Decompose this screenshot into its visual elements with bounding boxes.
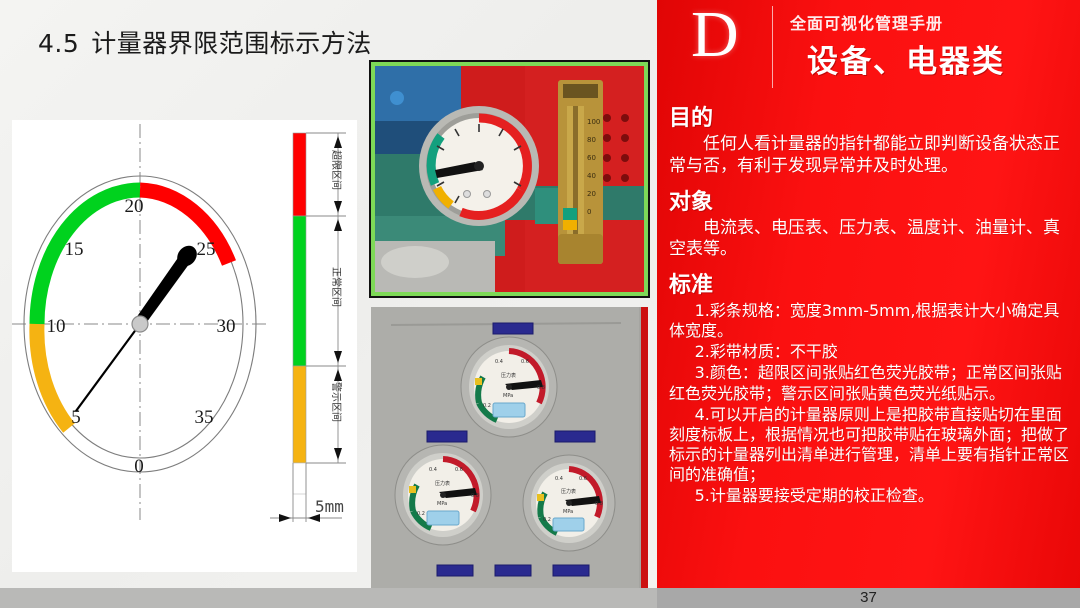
- photo-pressure-gauge: 100 80 60 40 20 0: [371, 62, 648, 296]
- strip-label-normal: 正常区间: [330, 267, 343, 307]
- gauge-tick-15: 15: [65, 239, 84, 260]
- svg-text:压力表: 压力表: [435, 480, 450, 487]
- svg-text:0.8: 0.8: [595, 501, 603, 507]
- svg-text:0.8: 0.8: [471, 493, 479, 499]
- page-title-text: 计量器界限范围标示方法: [91, 29, 372, 58]
- strip-width-label: 5mm: [315, 497, 344, 516]
- gauge-label-right: [555, 431, 595, 442]
- standard-item-3: 3.颜色：超限区间张贴红色荧光胶带；正常区间张贴红色荧光胶带；警示区间张贴黄色荧…: [669, 363, 1070, 403]
- svg-text:MPa: MPa: [503, 393, 513, 399]
- page-title-number: 4.5: [38, 29, 79, 58]
- gauge-diagram-svg: 20 15 10 5 0 35 30 25: [12, 120, 357, 572]
- standard-item-2: 2.彩带材质：不干胶: [669, 342, 1070, 362]
- svg-text:0.6: 0.6: [521, 359, 529, 365]
- gauge-label-bottom-left: [437, 565, 473, 576]
- strip-segment-warning: [293, 366, 306, 463]
- section-heading-purpose: 目的: [669, 100, 1080, 132]
- svg-text:0.6: 0.6: [455, 467, 463, 473]
- gauge-tick-35: 35: [195, 407, 214, 428]
- left-footer-band: [0, 588, 657, 608]
- strip-segment-blank: [293, 463, 306, 494]
- slide-root: 4.5计量器界限范围标示方法: [0, 0, 1080, 608]
- panel-gauge-right: 0.40.6 0.80.2 压力表MPa: [523, 455, 615, 551]
- svg-text:0.2: 0.2: [483, 403, 491, 409]
- svg-text:MPa: MPa: [563, 509, 573, 515]
- strip-segment-normal: [293, 216, 306, 366]
- svg-text:40: 40: [587, 172, 596, 180]
- photo-panel-gauges: 0.40.6 0.80.2 压力表MPa: [371, 307, 648, 601]
- svg-text:0.2: 0.2: [417, 511, 425, 517]
- strip-label-warning: 警示区间: [330, 382, 343, 422]
- section-title: 设备、电器类: [807, 36, 1005, 81]
- left-content-pane: 4.5计量器界限范围标示方法: [0, 0, 657, 608]
- color-strip-legend: 超限区间 正常区间 警示区间 5mm: [270, 133, 346, 522]
- svg-text:80: 80: [587, 136, 596, 144]
- gauge-tick-20: 20: [125, 196, 144, 217]
- section-heading-standard: 标准: [669, 267, 1080, 299]
- page-title: 4.5计量器界限范围标示方法: [38, 24, 372, 60]
- gauge-needle: [76, 242, 201, 411]
- gauge-tick-0: 0: [134, 456, 144, 477]
- section-text-purpose: 任何人看计量器的指针都能立即判断设备状态正常与否，有利于发现异常并及时处理。: [669, 134, 1070, 178]
- handbook-subtitle: 全面可视化管理手册: [790, 10, 943, 34]
- svg-text:0.6: 0.6: [579, 476, 587, 482]
- gauge-band-warning: [37, 324, 69, 428]
- strip-label-overlimit: 超限区间: [330, 150, 343, 190]
- gauge-label-bottom-right: [553, 565, 589, 576]
- section-letter: D: [691, 2, 739, 68]
- photo-right-edge-strip: [641, 307, 648, 601]
- svg-text:0.8: 0.8: [537, 385, 545, 391]
- section-heading-target: 对象: [669, 184, 1080, 216]
- gauge-needle-hub: [132, 316, 148, 332]
- photo-top-art: 100 80 60 40 20 0: [375, 66, 644, 292]
- standard-list: 1.彩条规格：宽度3mm-5mm,根据表计大小确定具体宽度。 2.彩带材质：不干…: [669, 301, 1070, 507]
- header-divider: [772, 6, 773, 88]
- thermo-green-tape: [563, 208, 577, 220]
- section-text-target: 电流表、电压表、压力表、温度计、油量计、真空表等。: [669, 218, 1070, 262]
- gauge-diagram-card: 20 15 10 5 0 35 30 25: [12, 120, 357, 572]
- standard-item-5: 5.计量器要接受定期的校正检查。: [669, 486, 1070, 506]
- gauge-label-bottom-mid: [495, 565, 531, 576]
- panel-gauge-top: 0.40.6 0.80.2 压力表MPa: [461, 337, 557, 437]
- svg-text:压力表: 压力表: [561, 488, 576, 495]
- svg-text:0.4: 0.4: [555, 476, 563, 482]
- panel-gauge-left: 0.40.6 0.80.2 压力表MPa: [395, 445, 491, 545]
- standard-item-1: 1.彩条规格：宽度3mm-5mm,根据表计大小确定具体宽度。: [669, 301, 1070, 341]
- gauge-tick-25: 25: [197, 239, 216, 260]
- footer-band: 37: [657, 588, 1080, 608]
- thermo-yellow-tape: [563, 220, 577, 230]
- red-panel-header: D 全面可视化管理手册 设备、电器类: [657, 0, 1080, 96]
- photo-bottom-art: 0.40.6 0.80.2 压力表MPa: [371, 307, 648, 601]
- svg-text:MPa: MPa: [437, 501, 447, 507]
- gauge-tick-30: 30: [217, 316, 236, 337]
- strip-segment-overlimit: [293, 133, 306, 216]
- red-panel-body: 目的 任何人看计量器的指针都能立即判断设备状态正常与否，有利于发现异常并及时处理…: [657, 96, 1080, 508]
- right-red-panel: D 全面可视化管理手册 设备、电器类 目的 任何人看计量器的指针都能立即判断设备…: [657, 0, 1080, 588]
- svg-text:0.4: 0.4: [429, 467, 437, 473]
- svg-text:0.2: 0.2: [543, 517, 551, 523]
- standard-item-4: 4.可以开启的计量器原则上是把胶带直接贴切在里面刻度标板上，根据情况也可把胶带贴…: [669, 405, 1070, 486]
- gauge-label-top: [493, 323, 533, 334]
- svg-text:0: 0: [587, 208, 591, 216]
- svg-text:20: 20: [587, 190, 596, 198]
- svg-text:压力表: 压力表: [501, 372, 516, 379]
- svg-text:60: 60: [587, 154, 596, 162]
- gauge-label-left: [427, 431, 467, 442]
- gauge-tick-labels: 20 15 10 5 0 35 30 25: [47, 196, 236, 477]
- svg-text:0.4: 0.4: [495, 359, 503, 365]
- gauge-tick-10: 10: [47, 316, 66, 337]
- svg-text:100: 100: [587, 118, 600, 126]
- page-number: 37: [657, 588, 1080, 608]
